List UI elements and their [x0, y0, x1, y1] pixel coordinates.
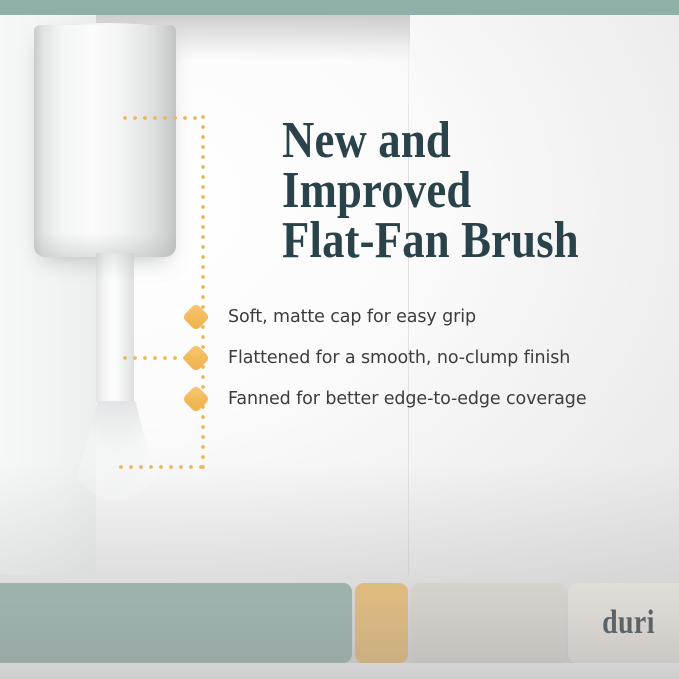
- product-infographic: New and Improved Flat-Fan Brush Soft, ma…: [0, 0, 679, 679]
- background-vignette: [0, 0, 679, 679]
- bottom-gray-strip: [0, 663, 679, 679]
